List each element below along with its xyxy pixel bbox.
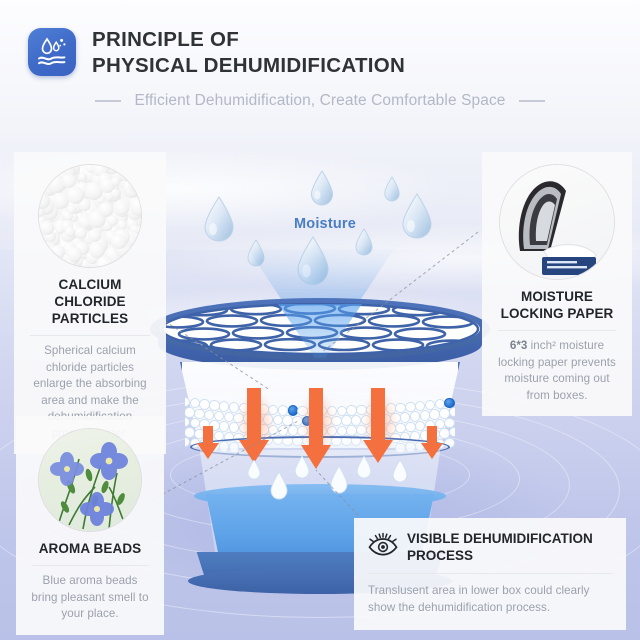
moisture-label: Moisture	[280, 216, 370, 232]
subtitle-dash-left	[95, 100, 121, 102]
page-title-line-1: PRINCIPLE OF	[92, 27, 405, 53]
card-divider	[32, 565, 148, 566]
card-divider	[30, 335, 150, 336]
page-subtitle: Efficient Dehumidification, Create Comfo…	[134, 92, 505, 110]
callout-card-calcium-chloride[interactable]: CALCIUM CHLORIDE PARTICLES Spherical cal…	[14, 152, 166, 454]
condensed-droplet	[356, 456, 372, 479]
dehumidify-arrow	[196, 426, 220, 460]
moisture-locking-paper-photo	[499, 164, 615, 280]
moisture-droplet	[202, 196, 236, 242]
water-drop-wave-icon	[28, 28, 76, 76]
page-subtitle-row: Efficient Dehumidification, Create Comfo…	[0, 92, 640, 110]
card-title: CALCIUM CHLORIDE PARTICLES	[26, 276, 154, 327]
condensed-droplet	[329, 466, 349, 494]
dehumidify-arrow	[420, 426, 444, 460]
callout-card-visible-process[interactable]: VISIBLE DEHUMIDIFICATION PROCESS Translu…	[354, 518, 626, 630]
subtitle-dash-right	[519, 100, 545, 102]
moisture-droplet	[383, 176, 401, 202]
card-body-strong: 6*3	[510, 339, 528, 352]
condensed-droplet	[392, 460, 408, 483]
condensed-droplet	[294, 456, 310, 479]
dehumidify-arrow	[238, 388, 270, 464]
moisture-droplet	[400, 193, 434, 239]
card-body: Blue aroma beads bring pleasant smell to…	[28, 573, 152, 623]
card-title: MOISTURE LOCKING PAPER	[494, 288, 620, 322]
eye-icon	[368, 530, 398, 562]
page-title-line-2: PHYSICAL DEHUMIDIFICATION	[92, 53, 405, 79]
moisture-droplet	[309, 170, 335, 206]
card-body: 6*3 inch² moisture locking paper prevent…	[494, 338, 620, 404]
condensed-droplet	[269, 472, 289, 500]
page-title: PRINCIPLE OF PHYSICAL DEHUMIDIFICATION	[92, 27, 405, 79]
blue-flax-flowers-photo	[38, 428, 142, 532]
callout-card-moisture-locking-paper[interactable]: MOISTURE LOCKING PAPER 6*3 inch² moistur…	[482, 152, 632, 416]
page-header: PRINCIPLE OF PHYSICAL DEHUMIDIFICATION E…	[0, 0, 640, 132]
dehumidify-arrow	[362, 388, 394, 464]
card-title: AROMA BEADS	[28, 540, 152, 557]
card-title: VISIBLE DEHUMIDIFICATION PROCESS	[407, 530, 612, 564]
card-body: Translusent area in lower box could clea…	[368, 582, 612, 616]
calcium-chloride-particles-photo	[38, 164, 142, 268]
callout-card-aroma-beads[interactable]: AROMA BEADS Blue aroma beads bring pleas…	[16, 416, 164, 635]
card-divider	[368, 573, 612, 574]
condensed-droplet	[247, 460, 261, 480]
card-divider	[498, 330, 616, 331]
